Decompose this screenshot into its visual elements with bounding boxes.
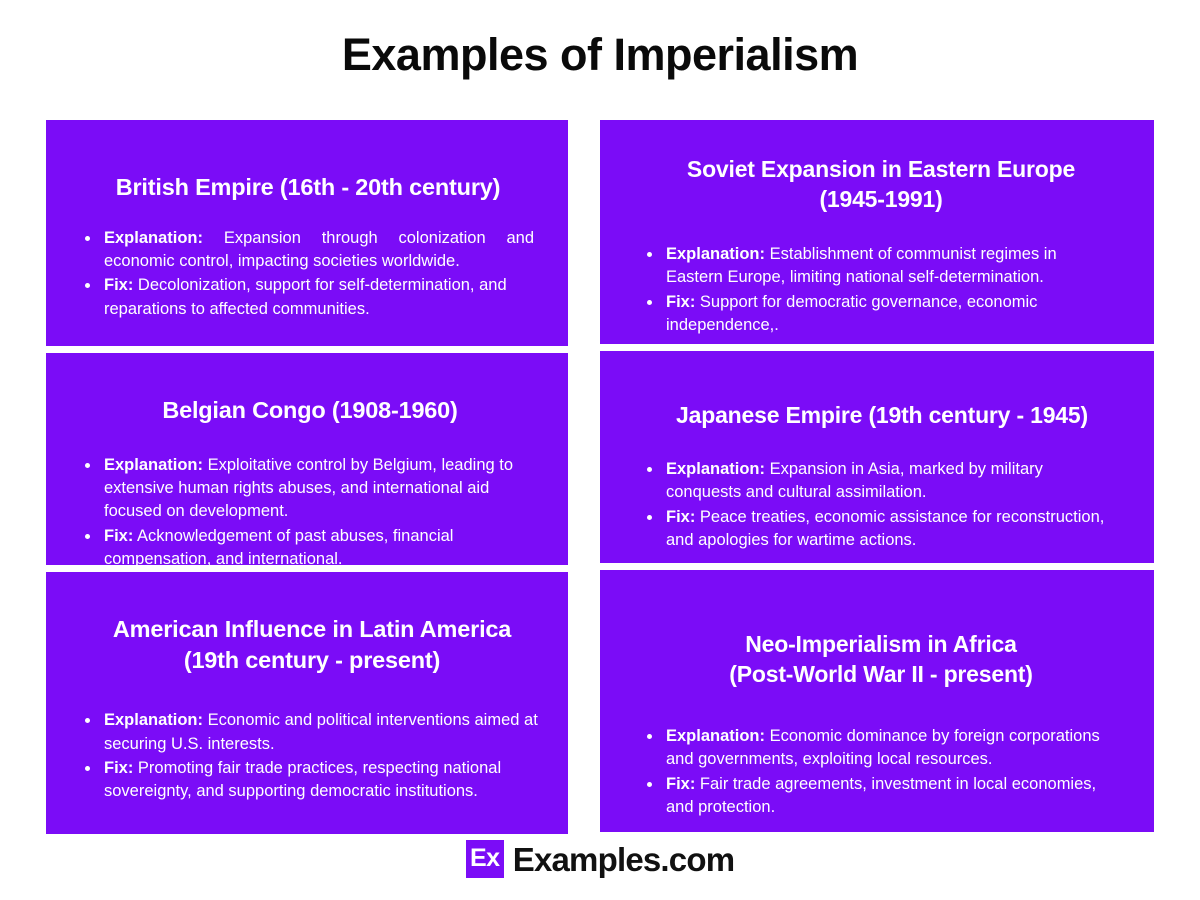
fix-label: Fix: [104, 527, 133, 545]
bullet-fix: Fix: Fair trade agreements, investment i… [644, 773, 1118, 820]
explanation-label: Explanation: [666, 727, 765, 745]
examples-logo-text: Examples.com [513, 843, 735, 876]
card-title-line-1: American Influence in Latin America [82, 614, 542, 645]
fix-label: Fix: [666, 508, 695, 526]
bullet-fix: Fix: Decolonization, support for self-de… [82, 274, 534, 321]
card-bullets: Explanation: Economic and political inte… [82, 709, 542, 805]
bullet-explanation: Explanation: Economic dominance by forei… [644, 725, 1118, 772]
bullet-explanation: Explanation: Economic and political inte… [82, 709, 542, 756]
card-american-influence-latin-america[interactable]: American Influence in Latin America (19t… [46, 572, 568, 834]
examples-logo-icon: Ex [466, 840, 504, 878]
bullet-fix: Fix: Peace treaties, economic assistance… [644, 506, 1120, 553]
fix-text: Fair trade agreements, investment in loc… [666, 775, 1096, 816]
card-bullets: Explanation: Exploitative control by Bel… [82, 454, 538, 573]
bullet-explanation: Explanation: Expansion in Asia, marked b… [644, 458, 1120, 505]
site-footer: Ex Examples.com [0, 840, 1200, 878]
bullet-fix: Fix: Promoting fair trade practices, res… [82, 757, 542, 804]
card-belgian-congo[interactable]: Belgian Congo (1908-1960) Explanation: E… [46, 353, 568, 565]
fix-label: Fix: [666, 775, 695, 793]
bullet-fix: Fix: Acknowledgement of past abuses, fin… [82, 525, 538, 572]
left-column: British Empire (16th - 20th century) Exp… [46, 120, 568, 834]
fix-text: Promoting fair trade practices, respecti… [104, 759, 501, 800]
fix-text: Support for democratic governance, econo… [666, 293, 1037, 334]
card-title: American Influence in Latin America (19t… [82, 614, 542, 675]
card-bullets: Explanation: Expansion through colonizat… [82, 227, 534, 323]
bullet-fix: Fix: Support for democratic governance, … [644, 291, 1118, 338]
page-title: Examples of Imperialism [0, 0, 1200, 80]
card-title: Soviet Expansion in Eastern Europe (1945… [644, 155, 1118, 215]
card-title: Belgian Congo (1908-1960) [82, 395, 538, 426]
card-title: British Empire (16th - 20th century) [82, 172, 534, 203]
card-soviet-expansion-eastern-europe[interactable]: Soviet Expansion in Eastern Europe (1945… [600, 120, 1154, 344]
card-japanese-empire[interactable]: Japanese Empire (19th century - 1945) Ex… [600, 351, 1154, 563]
poster-root: Examples of Imperialism British Empire (… [0, 0, 1200, 900]
card-bullets: Explanation: Economic dominance by forei… [644, 725, 1118, 821]
card-title-line-2: (1945-1991) [644, 185, 1118, 215]
card-british-empire[interactable]: British Empire (16th - 20th century) Exp… [46, 120, 568, 346]
card-bullets: Explanation: Expansion in Asia, marked b… [644, 458, 1120, 554]
fix-text: Decolonization, support for self-determi… [104, 276, 507, 317]
cards-grid: British Empire (16th - 20th century) Exp… [46, 120, 1154, 834]
card-neo-imperialism-africa[interactable]: Neo-Imperialism in Africa (Post-World Wa… [600, 570, 1154, 832]
card-title: Neo-Imperialism in Africa (Post-World Wa… [644, 630, 1118, 690]
explanation-label: Explanation: [666, 460, 765, 478]
card-bullets: Explanation: Establishment of communist … [644, 243, 1118, 339]
card-title-line-1: Neo-Imperialism in Africa [644, 630, 1118, 660]
fix-text: Peace treaties, economic assistance for … [666, 508, 1104, 549]
right-column: Soviet Expansion in Eastern Europe (1945… [600, 120, 1154, 834]
fix-label: Fix: [104, 759, 133, 777]
bullet-explanation: Explanation: Exploitative control by Bel… [82, 454, 538, 524]
fix-text: Acknowledgement of past abuses, financia… [104, 527, 453, 568]
explanation-label: Explanation: [666, 245, 765, 263]
bullet-explanation: Explanation: Expansion through colonizat… [82, 227, 534, 274]
card-title-line-2: (19th century - present) [82, 645, 542, 676]
card-title-line-2: (Post-World War II - present) [644, 660, 1118, 690]
explanation-label: Explanation: [104, 456, 203, 474]
explanation-label: Explanation: [104, 711, 203, 729]
card-title-line-1: Soviet Expansion in Eastern Europe [644, 155, 1118, 185]
fix-label: Fix: [104, 276, 133, 294]
bullet-explanation: Explanation: Establishment of communist … [644, 243, 1118, 290]
fix-label: Fix: [666, 293, 695, 311]
card-title: Japanese Empire (19th century - 1945) [644, 401, 1120, 431]
explanation-label: Explanation: [104, 229, 203, 247]
